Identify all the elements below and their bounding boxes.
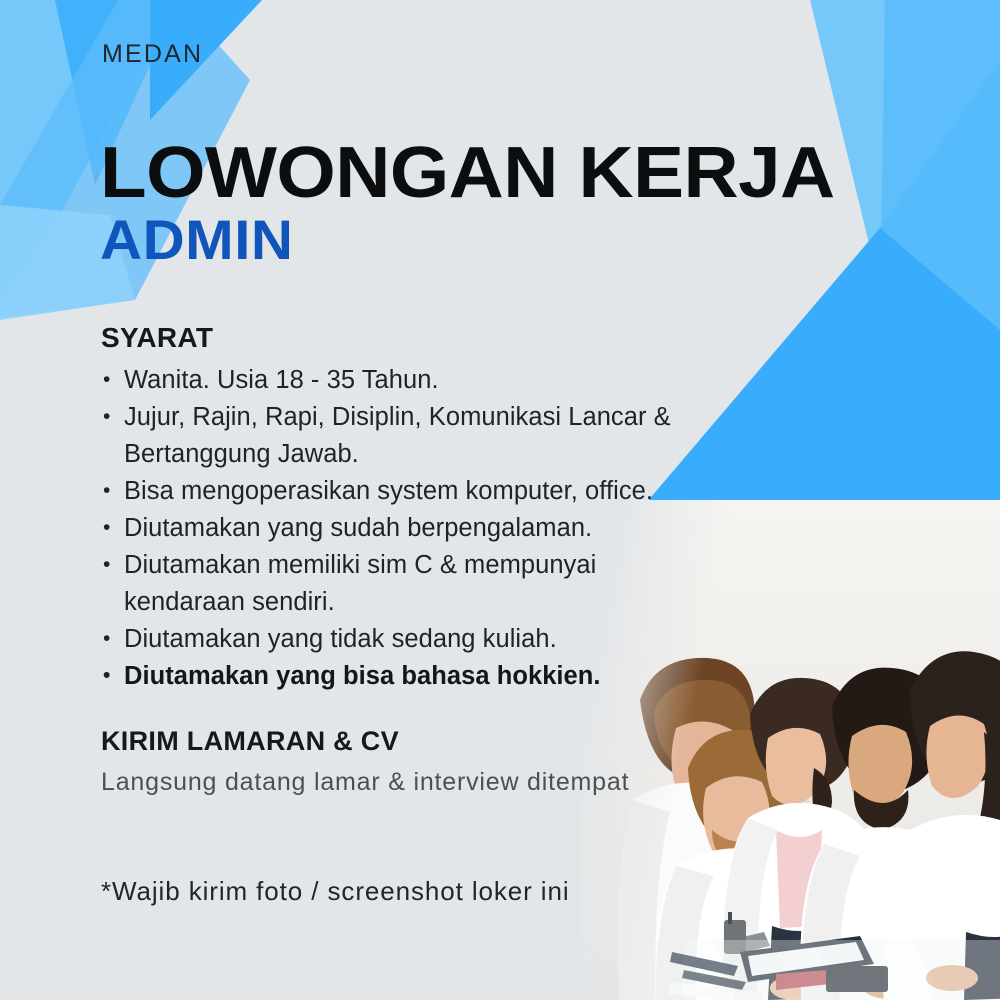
poster-content: MEDAN LOWONGAN KERJA ADMIN SYARAT Wanita… [100, 0, 900, 1000]
list-item: Jujur, Rajin, Rapi, Disiplin, Komunikasi… [100, 399, 700, 473]
requirements-heading: SYARAT [101, 322, 213, 354]
list-item: Diutamakan yang tidak sedang kuliah. [100, 621, 700, 658]
requirements-list: Wanita. Usia 18 - 35 Tahun. Jujur, Rajin… [100, 362, 700, 695]
list-item: Bisa mengoperasikan system komputer, off… [100, 473, 700, 510]
list-item: Diutamakan yang sudah berpengalaman. [100, 510, 700, 547]
job-vacancy-poster: MEDAN LOWONGAN KERJA ADMIN SYARAT Wanita… [0, 0, 1000, 1000]
list-item: Wanita. Usia 18 - 35 Tahun. [100, 362, 700, 399]
job-position: ADMIN [100, 208, 293, 272]
apply-heading: KIRIM LAMARAN & CV [101, 726, 399, 757]
page-title: LOWONGAN KERJA [100, 130, 835, 216]
city-label: MEDAN [102, 40, 203, 69]
apply-subtitle: Langsung datang lamar & interview ditemp… [101, 765, 629, 799]
list-item: Diutamakan memiliki sim C & mempunyai ke… [100, 547, 700, 621]
list-item: Diutamakan yang bisa bahasa hokkien. [100, 658, 700, 695]
footnote: *Wajib kirim foto / screenshot loker ini [101, 874, 570, 908]
